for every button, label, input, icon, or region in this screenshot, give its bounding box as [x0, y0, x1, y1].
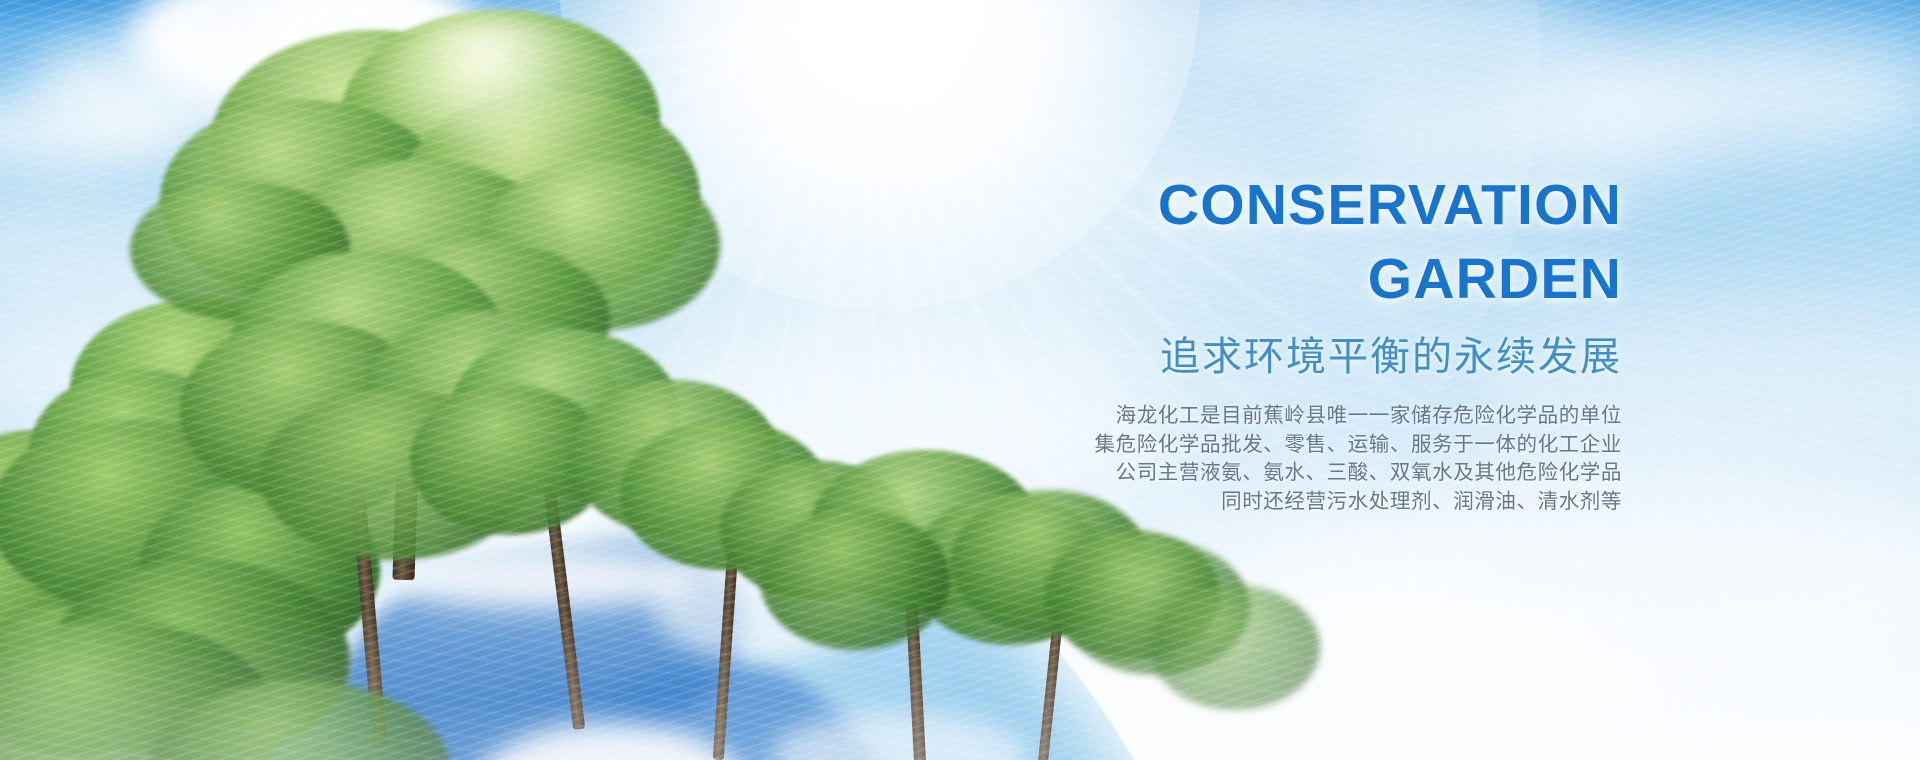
description-line-1: 海龙化工是目前蕉岭县唯一一家储存危险化学品的单位: [1002, 402, 1622, 431]
banner-copy: CONSERVATION GARDEN 追求环境平衡的永续发展 海龙化工是目前蕉…: [1002, 168, 1622, 516]
description-line-4: 同时还经营污水处理剂、润滑油、清水剂等: [1002, 488, 1622, 517]
eco-hero-banner: CONSERVATION GARDEN 追求环境平衡的永续发展 海龙化工是目前蕉…: [0, 0, 1920, 760]
headline-line-1: CONSERVATION: [1002, 168, 1622, 242]
description-block: 海龙化工是目前蕉岭县唯一一家储存危险化学品的单位 集危险化学品批发、零售、运输、…: [1002, 402, 1622, 516]
headline-line-2: GARDEN: [1002, 242, 1622, 316]
description-line-2: 集危险化学品批发、零售、运输、服务于一体的化工企业: [1002, 431, 1622, 460]
subheadline: 追求环境平衡的永续发展: [1002, 330, 1622, 384]
description-line-3: 公司主营液氨、氨水、三酸、双氧水及其他危险化学品: [1002, 459, 1622, 488]
